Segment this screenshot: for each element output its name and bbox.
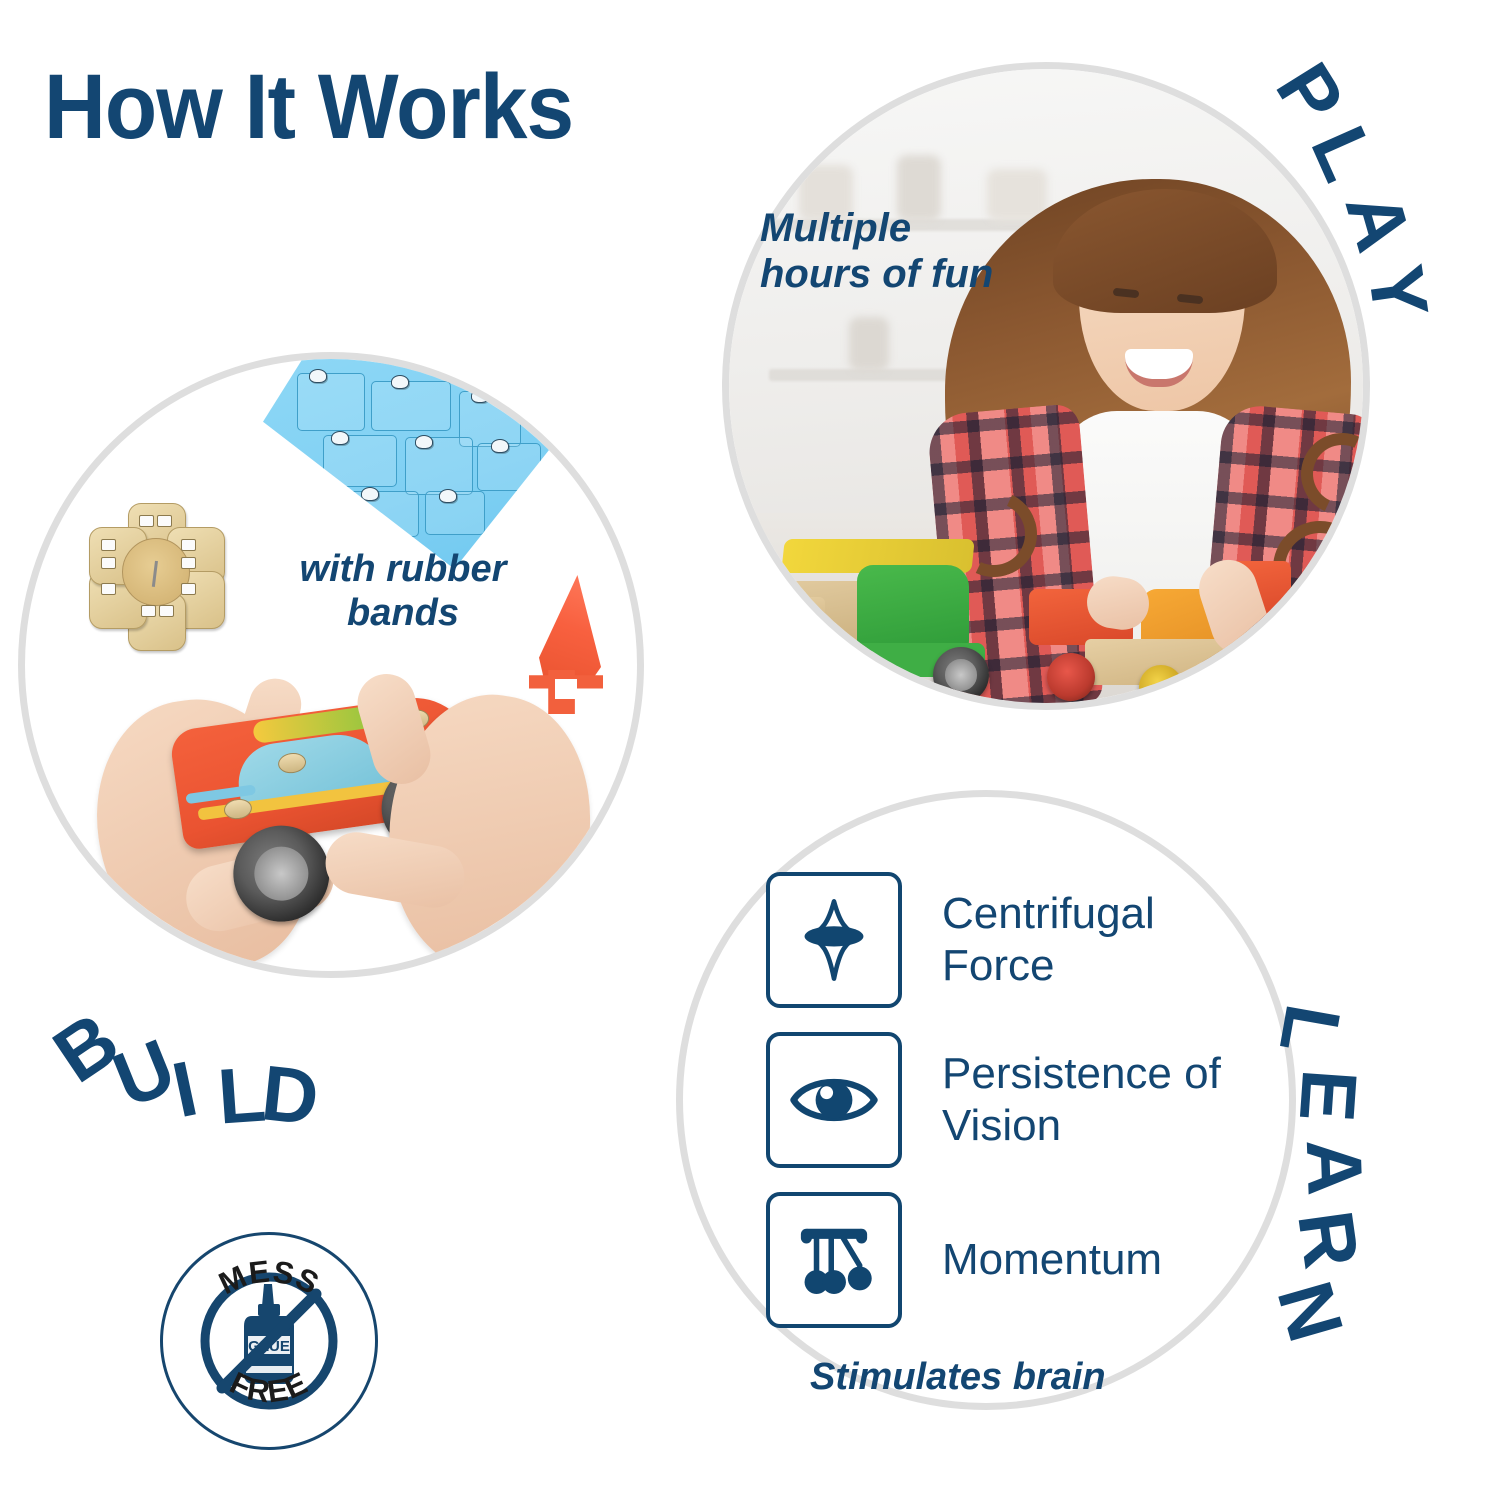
toy-orange-vehicle-graphic xyxy=(1029,555,1299,710)
feature-row-persistence-of-vision[interactable]: Persistence of Vision xyxy=(766,1032,1226,1168)
learn-letter: L xyxy=(1261,998,1359,1061)
toy-tuktuk-graphic xyxy=(765,539,1015,709)
play-callout-line1: Multiple xyxy=(760,205,993,251)
feature-row-momentum[interactable]: Momentum xyxy=(766,1192,1226,1328)
mess-free-badge: GLUE MESS FREE xyxy=(160,1232,378,1450)
badge-bottom-word-text: FREE xyxy=(225,1365,314,1410)
play-callout: Multiple hours of fun xyxy=(760,205,993,297)
newtons-cradle-icon-box xyxy=(766,1192,902,1328)
badge-bottom-word: FREE xyxy=(160,1232,378,1450)
learn-letter: A xyxy=(1288,1138,1381,1197)
learn-footnote: Stimulates brain xyxy=(810,1356,1106,1399)
learn-letter: R xyxy=(1279,1205,1377,1273)
infographic-canvas: How It Works xyxy=(0,0,1500,1500)
learn-step-label: L E A R N xyxy=(1250,980,1460,1360)
wooden-gear-piece-graphic xyxy=(89,505,223,639)
play-letter: Y xyxy=(1349,259,1446,323)
build-letter: D xyxy=(257,1047,323,1143)
feature-label: Centrifugal Force xyxy=(942,888,1226,992)
eye-icon-box xyxy=(766,1032,902,1168)
page-title: How It Works xyxy=(44,55,573,160)
learn-letter: N xyxy=(1259,1272,1362,1351)
play-letter: A xyxy=(1327,182,1430,261)
punch-out-sheet-graphic xyxy=(263,352,593,569)
build-callout: with rubber bands xyxy=(278,548,528,635)
feature-label: Momentum xyxy=(942,1234,1162,1286)
spinning-top-icon-box xyxy=(766,872,902,1008)
hands-assembling-toy-graphic xyxy=(89,659,589,978)
feature-label: Persistence of Vision xyxy=(942,1048,1226,1152)
build-callout-line1: with rubber xyxy=(278,548,528,592)
learn-feature-list: Centrifugal Force Persistence of Vision xyxy=(766,872,1226,1352)
spinning-top-icon xyxy=(788,894,880,986)
build-step-label: B U I L D xyxy=(58,980,398,1120)
feature-row-centrifugal-force[interactable]: Centrifugal Force xyxy=(766,872,1226,1008)
eye-icon xyxy=(788,1054,880,1146)
svg-text:FREE: FREE xyxy=(225,1365,314,1410)
build-callout-line2: bands xyxy=(278,592,528,636)
learn-letter: E xyxy=(1281,1066,1375,1124)
play-step-label: P L A Y xyxy=(1272,40,1500,340)
build-circle-panel xyxy=(18,352,644,978)
newtons-cradle-icon xyxy=(788,1214,880,1306)
play-callout-line2: hours of fun xyxy=(760,251,993,297)
